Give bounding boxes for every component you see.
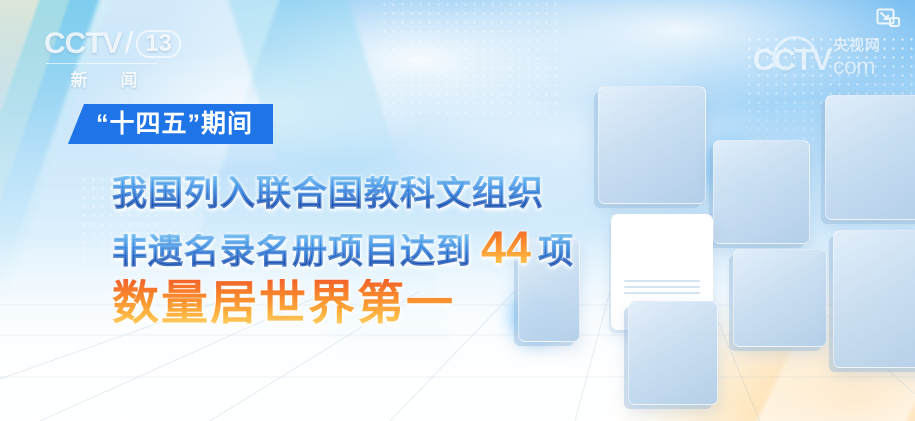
headline-block: 我国列入联合国教科文组织 非遗名录名册项目达到 44 项 数量居世界第一 — [112, 176, 574, 326]
floating-card-top-left — [598, 86, 706, 204]
headline-line-2: 非遗名录名册项目达到 44 项 — [112, 225, 574, 270]
headline-line-3-text: 数量居世界第一 — [112, 279, 455, 326]
floating-card-right-bottom — [833, 230, 915, 368]
dot-texture-top — [380, 0, 560, 120]
restore-down-icon[interactable] — [876, 8, 902, 30]
channel-bug-number: 13 — [136, 30, 181, 58]
floating-card-center-low — [733, 249, 827, 347]
broadcast-graphic-stage: CCTV / 13 新 闻 CCTV 央视网 com “十四五”期间 我国列入联… — [0, 0, 915, 421]
channel-bug-name: CCTV — [44, 27, 122, 61]
floating-card-bottom-left — [628, 301, 718, 405]
watermark-domain: com — [833, 55, 875, 78]
floating-card-right-top — [825, 95, 915, 220]
headline-line-1-text: 我国列入联合国教科文组织 — [112, 176, 544, 211]
document-card-lines — [624, 280, 700, 298]
period-banner: “十四五”期间 — [68, 104, 273, 144]
cctv13-channel-bug: CCTV / 13 新 闻 — [44, 26, 164, 84]
channel-bug-subtitle: 新 闻 — [44, 66, 164, 91]
headline-count-value: 44 — [472, 225, 538, 270]
period-banner-label: “十四五”期间 — [96, 112, 253, 137]
headline-line-3: 数量居世界第一 — [112, 279, 574, 326]
watermark-cn-name: 央视网 — [833, 38, 881, 53]
floating-card-center — [713, 140, 810, 244]
channel-bug-divider — [46, 63, 158, 64]
channel-bug-slash-icon: / — [125, 25, 134, 61]
headline-line-2-suffix: 项 — [538, 234, 574, 269]
watermark-arc-icon — [769, 33, 819, 69]
cctv-com-watermark: CCTV 央视网 com — [753, 38, 881, 78]
headline-line-1: 我国列入联合国教科文组织 — [112, 176, 574, 211]
headline-line-2-prefix: 非遗名录名册项目达到 — [112, 234, 472, 269]
